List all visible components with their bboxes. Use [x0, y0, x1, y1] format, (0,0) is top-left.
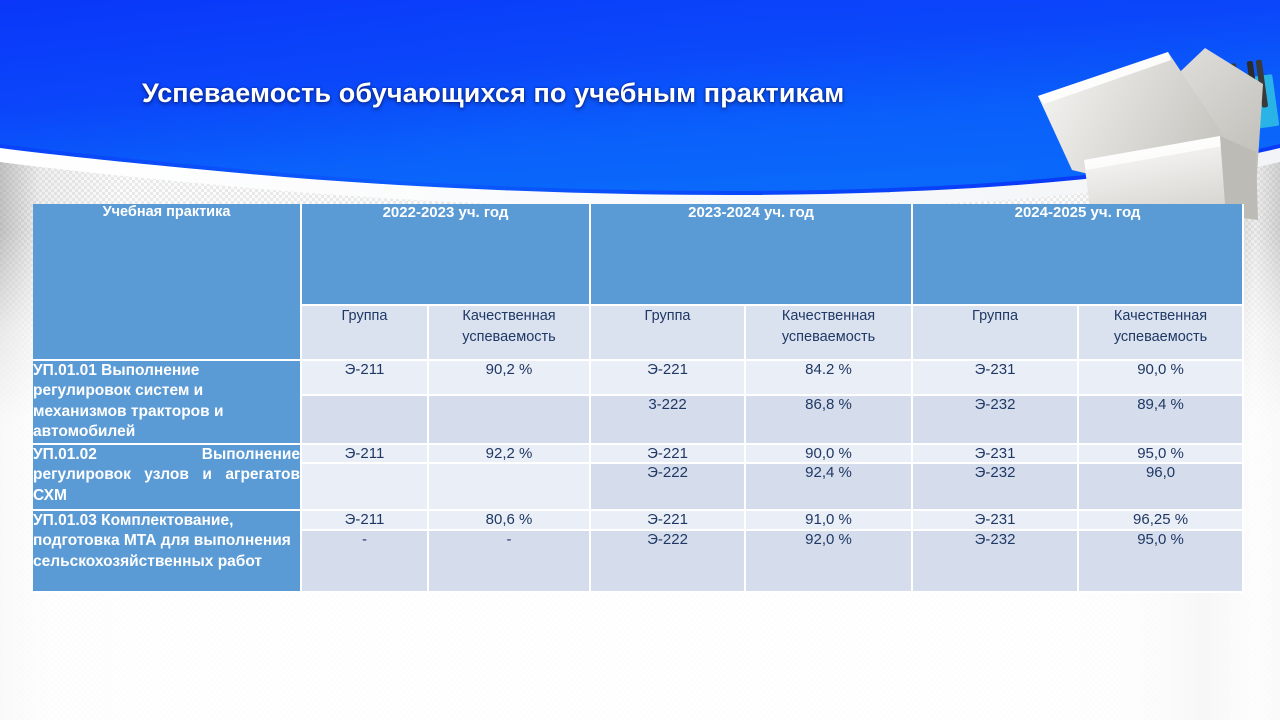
cell-group-2024-r1a: Э-231	[913, 361, 1079, 396]
cell-group-2022-r3b: -	[302, 531, 429, 593]
cell-quality-2022-r2a: 92,2 %	[429, 445, 591, 464]
subheader-group-2024: Группа	[913, 306, 1079, 361]
subheader-group-2024-label: Группа	[913, 306, 1077, 327]
table-row: УП.01.02 Выполнение регулировок узлов и …	[33, 445, 1244, 464]
cell-quality-2024-r1b: 89,4 %	[1079, 396, 1244, 445]
cell-quality-2023-r3b: 92,0 %	[746, 531, 913, 593]
practice-name-1: УП.01.01 Выполнение регулировок систем и…	[33, 361, 302, 445]
cell-quality-2023-r1a: 84.2 %	[746, 361, 913, 396]
subheader-quality-2023-line1: Качественная	[746, 306, 911, 327]
cell-group-2024-r2a: Э-231	[913, 445, 1079, 464]
cell-group-2022-r1a: Э-211	[302, 361, 429, 396]
cell-group-2023-r3b: Э-222	[591, 531, 746, 593]
subheader-quality-2022-line2: успеваемость	[429, 327, 589, 348]
subheader-quality-2024-line1: Качественная	[1079, 306, 1242, 327]
cell-quality-2022-r3a: 80,6 %	[429, 511, 591, 531]
performance-table: Учебная практика 2022-2023 уч. год 2023-…	[33, 204, 1244, 593]
cell-quality-2023-r3a: 91,0 %	[746, 511, 913, 531]
header-year-2022-2023: 2022-2023 уч. год	[302, 204, 591, 306]
cell-quality-2023-r2a: 90,0 %	[746, 445, 913, 464]
cell-quality-2024-r3a: 96,25 %	[1079, 511, 1244, 531]
practice-name-3: УП.01.03 Комплектование, подготовка МТА …	[33, 511, 302, 593]
cell-quality-2023-r1b: 86,8 %	[746, 396, 913, 445]
cell-group-2022-r3a: Э-211	[302, 511, 429, 531]
cell-group-2023-r1a: Э-221	[591, 361, 746, 396]
cell-group-2024-r3b: Э-232	[913, 531, 1079, 593]
subheader-quality-2023: Качественная успеваемость	[746, 306, 913, 361]
cell-quality-2022-r2b	[429, 464, 591, 511]
subheader-quality-2024: Качественная успеваемость	[1079, 306, 1244, 361]
cell-group-2024-r1b: Э-232	[913, 396, 1079, 445]
table-row: УП.01.01 Выполнение регулировок систем и…	[33, 361, 1244, 396]
subheader-quality-2024-line2: успеваемость	[1079, 327, 1242, 348]
header-year-2024-2025: 2024-2025 уч. год	[913, 204, 1244, 306]
cell-group-2022-r2a: Э-211	[302, 445, 429, 464]
cell-quality-2022-r1a: 90,2 %	[429, 361, 591, 396]
cell-group-2023-r1b: 3-222	[591, 396, 746, 445]
cell-quality-2024-r1a: 90,0 %	[1079, 361, 1244, 396]
header-practice: Учебная практика	[33, 204, 302, 361]
practice-name-2: УП.01.02 Выполнение регулировок узлов и …	[33, 445, 302, 511]
cell-quality-2022-r3b: -	[429, 531, 591, 593]
cell-group-2023-r2a: Э-221	[591, 445, 746, 464]
cell-group-2022-r1b	[302, 396, 429, 445]
cell-quality-2024-r2a: 95,0 %	[1079, 445, 1244, 464]
cell-quality-2022-r1b	[429, 396, 591, 445]
subheader-group-2022-label: Группа	[302, 306, 427, 327]
subheader-group-2023-label: Группа	[591, 306, 744, 327]
notebook-icon	[1020, 40, 1280, 225]
cell-quality-2023-r2b: 92,4 %	[746, 464, 913, 511]
cell-quality-2024-r2b: 96,0	[1079, 464, 1244, 511]
cell-group-2023-r3a: Э-221	[591, 511, 746, 531]
subheader-group-2022: Группа	[302, 306, 429, 361]
subheader-quality-2022-line1: Качественная	[429, 306, 589, 327]
table-row: УП.01.03 Комплектование, подготовка МТА …	[33, 511, 1244, 531]
cell-group-2022-r2b	[302, 464, 429, 511]
subheader-quality-2022: Качественная успеваемость	[429, 306, 591, 361]
subheader-quality-2023-line2: успеваемость	[746, 327, 911, 348]
cell-group-2024-r2b: Э-232	[913, 464, 1079, 511]
cell-group-2023-r2b: Э-222	[591, 464, 746, 511]
subheader-group-2023: Группа	[591, 306, 746, 361]
header-year-2023-2024: 2023-2024 уч. год	[591, 204, 913, 306]
performance-table-container: Учебная практика 2022-2023 уч. год 2023-…	[33, 204, 1244, 593]
page-title: Успеваемость обучающихся по учебным прак…	[142, 78, 1042, 109]
cell-quality-2024-r3b: 95,0 %	[1079, 531, 1244, 593]
cell-group-2024-r3a: Э-231	[913, 511, 1079, 531]
table-header-row-years: Учебная практика 2022-2023 уч. год 2023-…	[33, 204, 1244, 306]
